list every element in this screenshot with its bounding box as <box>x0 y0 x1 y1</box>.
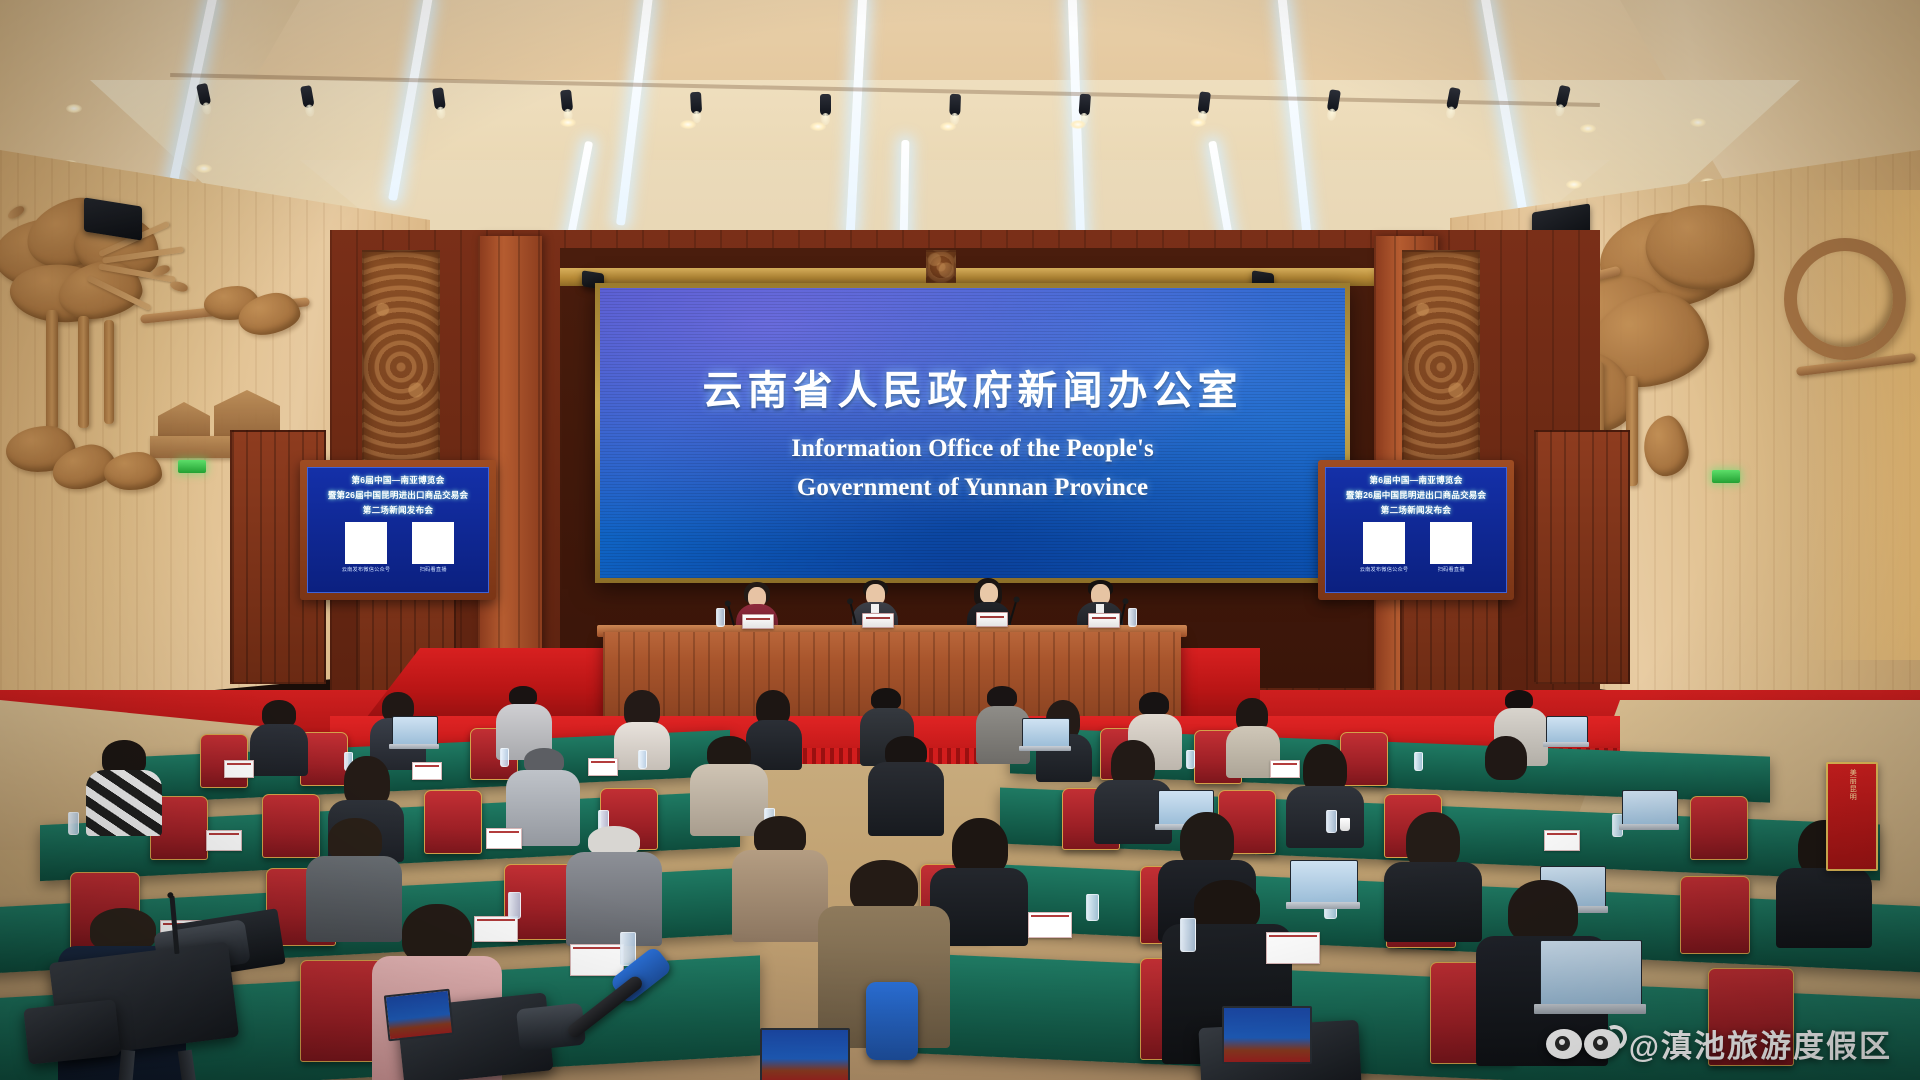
side-monitor-line-2: 暨第26届中国昆明进出口商品交易会 <box>1346 489 1486 501</box>
downlight <box>1580 124 1596 133</box>
name-card <box>224 760 254 778</box>
qr-code-icon <box>1363 522 1405 564</box>
name-card <box>1270 760 1300 778</box>
qr-block-left: 云南发布微信公众号 <box>1360 522 1409 573</box>
qr-right-caption: 扫码看直播 <box>420 566 447 573</box>
downlight <box>1566 180 1582 189</box>
back-wall-carved-panel-left <box>362 250 440 484</box>
led-screen-content: 云南省人民政府新闻办公室 Information Office of the P… <box>600 288 1345 578</box>
exit-sign <box>178 460 206 473</box>
side-monitor-qr-row: 云南发布微信公众号 扫码看直播 <box>342 522 455 573</box>
preview-monitor <box>760 1028 850 1080</box>
spotlight <box>690 92 702 115</box>
name-card <box>1266 932 1320 964</box>
qr-block-right: 扫码看直播 <box>1430 522 1472 573</box>
carved-bird <box>6 204 26 222</box>
back-wall-carved-panel-right <box>1402 250 1480 484</box>
weibo-signal-arc <box>1598 1021 1630 1053</box>
press-chair <box>1690 796 1748 860</box>
downlight <box>1070 120 1086 129</box>
nameplate-1 <box>742 614 774 629</box>
handheld-microphone-blue-2 <box>866 982 918 1060</box>
downlight <box>810 122 826 131</box>
downlight <box>1190 118 1206 127</box>
qr-left-caption: 云南发布微信公众号 <box>1360 566 1409 573</box>
water-bottle <box>500 748 509 767</box>
side-monitor-left: 第6届中国—南亚博览会 暨第26届中国昆明进出口商品交易会 第二场新闻发布会 云… <box>300 460 496 600</box>
weibo-handle: @滇池旅游度假区 <box>1629 1021 1892 1066</box>
downlight <box>680 120 696 129</box>
water-bottle <box>1414 752 1423 771</box>
name-card <box>570 944 624 976</box>
name-card <box>412 762 442 780</box>
water-bottle <box>1128 608 1137 627</box>
qr-right-caption: 扫码看直播 <box>1438 566 1465 573</box>
back-wall-panel-far-right <box>1534 430 1630 684</box>
press-chair <box>424 790 482 854</box>
downlight <box>66 104 82 113</box>
downlight <box>1690 118 1706 127</box>
qr-code-icon <box>412 522 454 564</box>
water-bottle <box>508 892 521 919</box>
press-conference-hall-photo: 云南省人民政府新闻办公室 Information Office of the P… <box>0 0 1920 1080</box>
led-title-english-line1: Information Office of the People's <box>791 430 1153 469</box>
side-monitor-line-1: 第6届中国—南亚博览会 <box>1369 474 1462 486</box>
back-wall-carved-panel-center-left <box>926 250 956 284</box>
press-chair <box>1340 732 1388 786</box>
camera-monitor <box>1222 1006 1312 1064</box>
spotlight <box>820 94 831 116</box>
water-bottle <box>1086 894 1099 921</box>
water-bottle <box>1186 750 1195 769</box>
water-bottle <box>1180 918 1196 952</box>
carved-ring-ornament <box>1784 238 1906 360</box>
carved-building <box>158 402 210 436</box>
side-monitor-right-screen: 第6届中国—南亚博览会 暨第26届中国昆明进出口商品交易会 第二场新闻发布会 云… <box>1325 467 1507 593</box>
side-monitor-right: 第6届中国—南亚博览会 暨第26届中国昆明进出口商品交易会 第二场新闻发布会 云… <box>1318 460 1514 600</box>
name-card <box>474 916 518 942</box>
downlight <box>196 164 212 173</box>
downlight <box>560 118 576 127</box>
name-card <box>206 830 242 851</box>
qr-block-right: 扫码看直播 <box>412 522 454 573</box>
name-card <box>588 758 618 776</box>
downlight <box>940 122 956 131</box>
spotlight <box>949 94 961 116</box>
nameplate-2 <box>862 613 894 628</box>
exit-sign <box>1712 470 1740 483</box>
paper-cup <box>1340 818 1350 831</box>
main-led-screen: 云南省人民政府新闻办公室 Information Office of the P… <box>595 283 1350 583</box>
led-title-english-line2: Government of Yunnan Province <box>791 469 1153 508</box>
qr-code-icon <box>1430 522 1472 564</box>
led-title-english: Information Office of the People's Gover… <box>791 430 1153 508</box>
side-monitor-line-1: 第6届中国—南亚博览会 <box>351 474 444 486</box>
qr-block-left: 云南发布微信公众号 <box>342 522 391 573</box>
carved-bird <box>169 280 189 293</box>
nameplate-4 <box>1088 613 1120 628</box>
weibo-icon <box>1546 1029 1620 1059</box>
press-chair <box>262 794 320 858</box>
weibo-watermark: @滇池旅游度假区 <box>1546 1021 1892 1066</box>
weibo-eye-left <box>1546 1029 1582 1059</box>
side-monitor-line-2: 暨第26届中国昆明进出口商品交易会 <box>328 489 468 501</box>
water-bottle <box>716 608 725 627</box>
water-bottle <box>68 812 79 835</box>
promo-banner-stand: 美丽昆明 <box>1826 762 1878 871</box>
weibo-eye-right <box>1584 1029 1620 1059</box>
spotlight <box>560 89 573 112</box>
nameplate-3 <box>976 612 1008 627</box>
camera-battery <box>23 999 120 1064</box>
side-monitor-line-3: 第二场新闻发布会 <box>363 504 433 516</box>
name-card <box>1544 830 1580 851</box>
side-monitor-line-3: 第二场新闻发布会 <box>1381 504 1451 516</box>
led-title-chinese: 云南省人民政府新闻办公室 <box>703 358 1243 416</box>
banner-line-1: 美丽昆明 <box>1847 769 1858 801</box>
water-bottle <box>1326 810 1337 833</box>
name-card <box>486 828 522 849</box>
qr-code-icon <box>345 522 387 564</box>
camera-monitor <box>384 989 454 1042</box>
press-chair <box>1680 876 1750 954</box>
water-bottle <box>638 750 647 769</box>
name-card <box>1028 912 1072 938</box>
spotlight <box>1078 94 1091 117</box>
side-monitor-left-screen: 第6届中国—南亚博览会 暨第26届中国昆明进出口商品交易会 第二场新闻发布会 云… <box>307 467 489 593</box>
side-monitor-qr-row: 云南发布微信公众号 扫码看直播 <box>1360 522 1473 573</box>
qr-left-caption: 云南发布微信公众号 <box>342 566 391 573</box>
